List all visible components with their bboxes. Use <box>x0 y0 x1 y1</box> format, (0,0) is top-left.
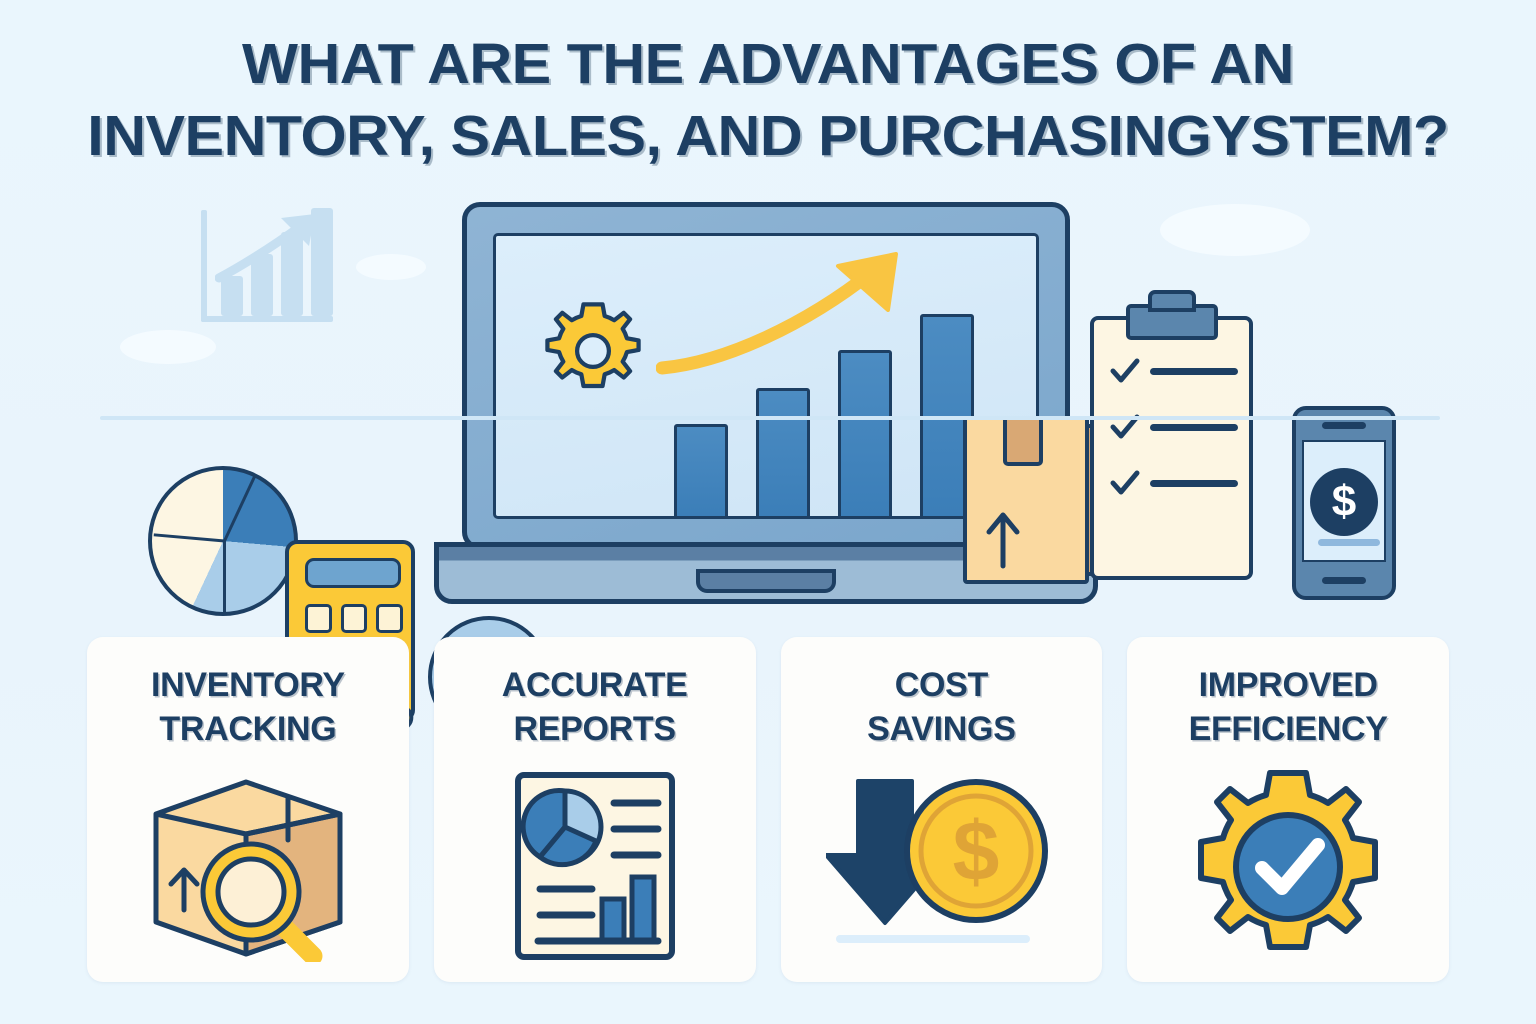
laptop-screen <box>493 233 1039 519</box>
card-title: ACCURATE REPORTS <box>502 663 688 751</box>
cloud-decoration <box>120 330 216 364</box>
report-document-icon <box>510 769 680 964</box>
box-magnifier-icon <box>138 772 358 962</box>
background-chart-watermark <box>195 204 335 326</box>
pie-chart-graphic <box>148 466 298 616</box>
card-title-line1: INVENTORY <box>151 666 345 704</box>
title-line-2: INVENTORY, SALES, AND PURCHASINGYSTEM? <box>0 100 1536 172</box>
card-icon-slot <box>1127 751 1449 982</box>
dollar-badge: $ <box>1310 468 1378 536</box>
card-cost-savings[interactable]: COST SAVINGS $ <box>781 637 1103 982</box>
calculator-display <box>305 558 401 588</box>
card-icon-slot: $ <box>781 751 1103 982</box>
card-title: IMPROVED EFFICIENCY <box>1189 663 1388 751</box>
clipboard-tab <box>1148 290 1196 312</box>
page-title: WHAT ARE THE ADVANTAGES OF AN INVENTORY,… <box>0 28 1536 172</box>
smartphone-graphic: $ <box>1292 406 1396 600</box>
clipboard-graphic <box>1090 298 1253 580</box>
card-improved-efficiency[interactable]: IMPROVED EFFICIENCY <box>1127 637 1449 982</box>
card-title-line1: IMPROVED <box>1199 666 1378 704</box>
gear-icon <box>540 298 646 404</box>
card-title: COST SAVINGS <box>867 663 1015 751</box>
this-side-up-arrow-icon <box>981 508 1025 570</box>
clipboard-paper <box>1090 316 1253 580</box>
phone-screen: $ <box>1302 440 1386 562</box>
title-line-1: WHAT ARE THE ADVANTAGES OF AN <box>0 28 1536 100</box>
cloud-decoration <box>1160 204 1310 256</box>
card-title-line2: SAVINGS <box>867 710 1015 748</box>
card-title-line2: TRACKING <box>159 710 336 748</box>
gear-check-icon <box>1188 769 1388 965</box>
card-title-line2: REPORTS <box>513 710 675 748</box>
hero-illustration: $ $ <box>0 188 1536 618</box>
benefit-cards: INVENTORY TRACKING ACCU <box>87 637 1449 982</box>
card-title: INVENTORY TRACKING <box>151 663 345 751</box>
checkmark-icon <box>1110 470 1140 498</box>
card-accurate-reports[interactable]: ACCURATE REPORTS <box>434 637 756 982</box>
checkmark-icon <box>1110 358 1140 386</box>
card-icon-slot <box>87 751 409 982</box>
laptop-trackpad <box>696 569 836 593</box>
infographic-page: WHAT ARE THE ADVANTAGES OF AN INVENTORY,… <box>0 0 1536 1024</box>
card-title-line1: COST <box>895 666 988 704</box>
growth-arrow-icon <box>215 212 333 288</box>
box-tape <box>1003 416 1043 466</box>
ground-line <box>100 416 1440 420</box>
down-arrow-coin-icon: $ <box>826 777 1056 957</box>
cloud-decoration <box>356 254 426 280</box>
svg-text:$: $ <box>953 804 1000 898</box>
card-icon-slot <box>434 751 756 982</box>
card-title-line1: ACCURATE <box>502 666 688 704</box>
card-title-line2: EFFICIENCY <box>1189 710 1388 748</box>
card-inventory-tracking[interactable]: INVENTORY TRACKING <box>87 637 409 982</box>
